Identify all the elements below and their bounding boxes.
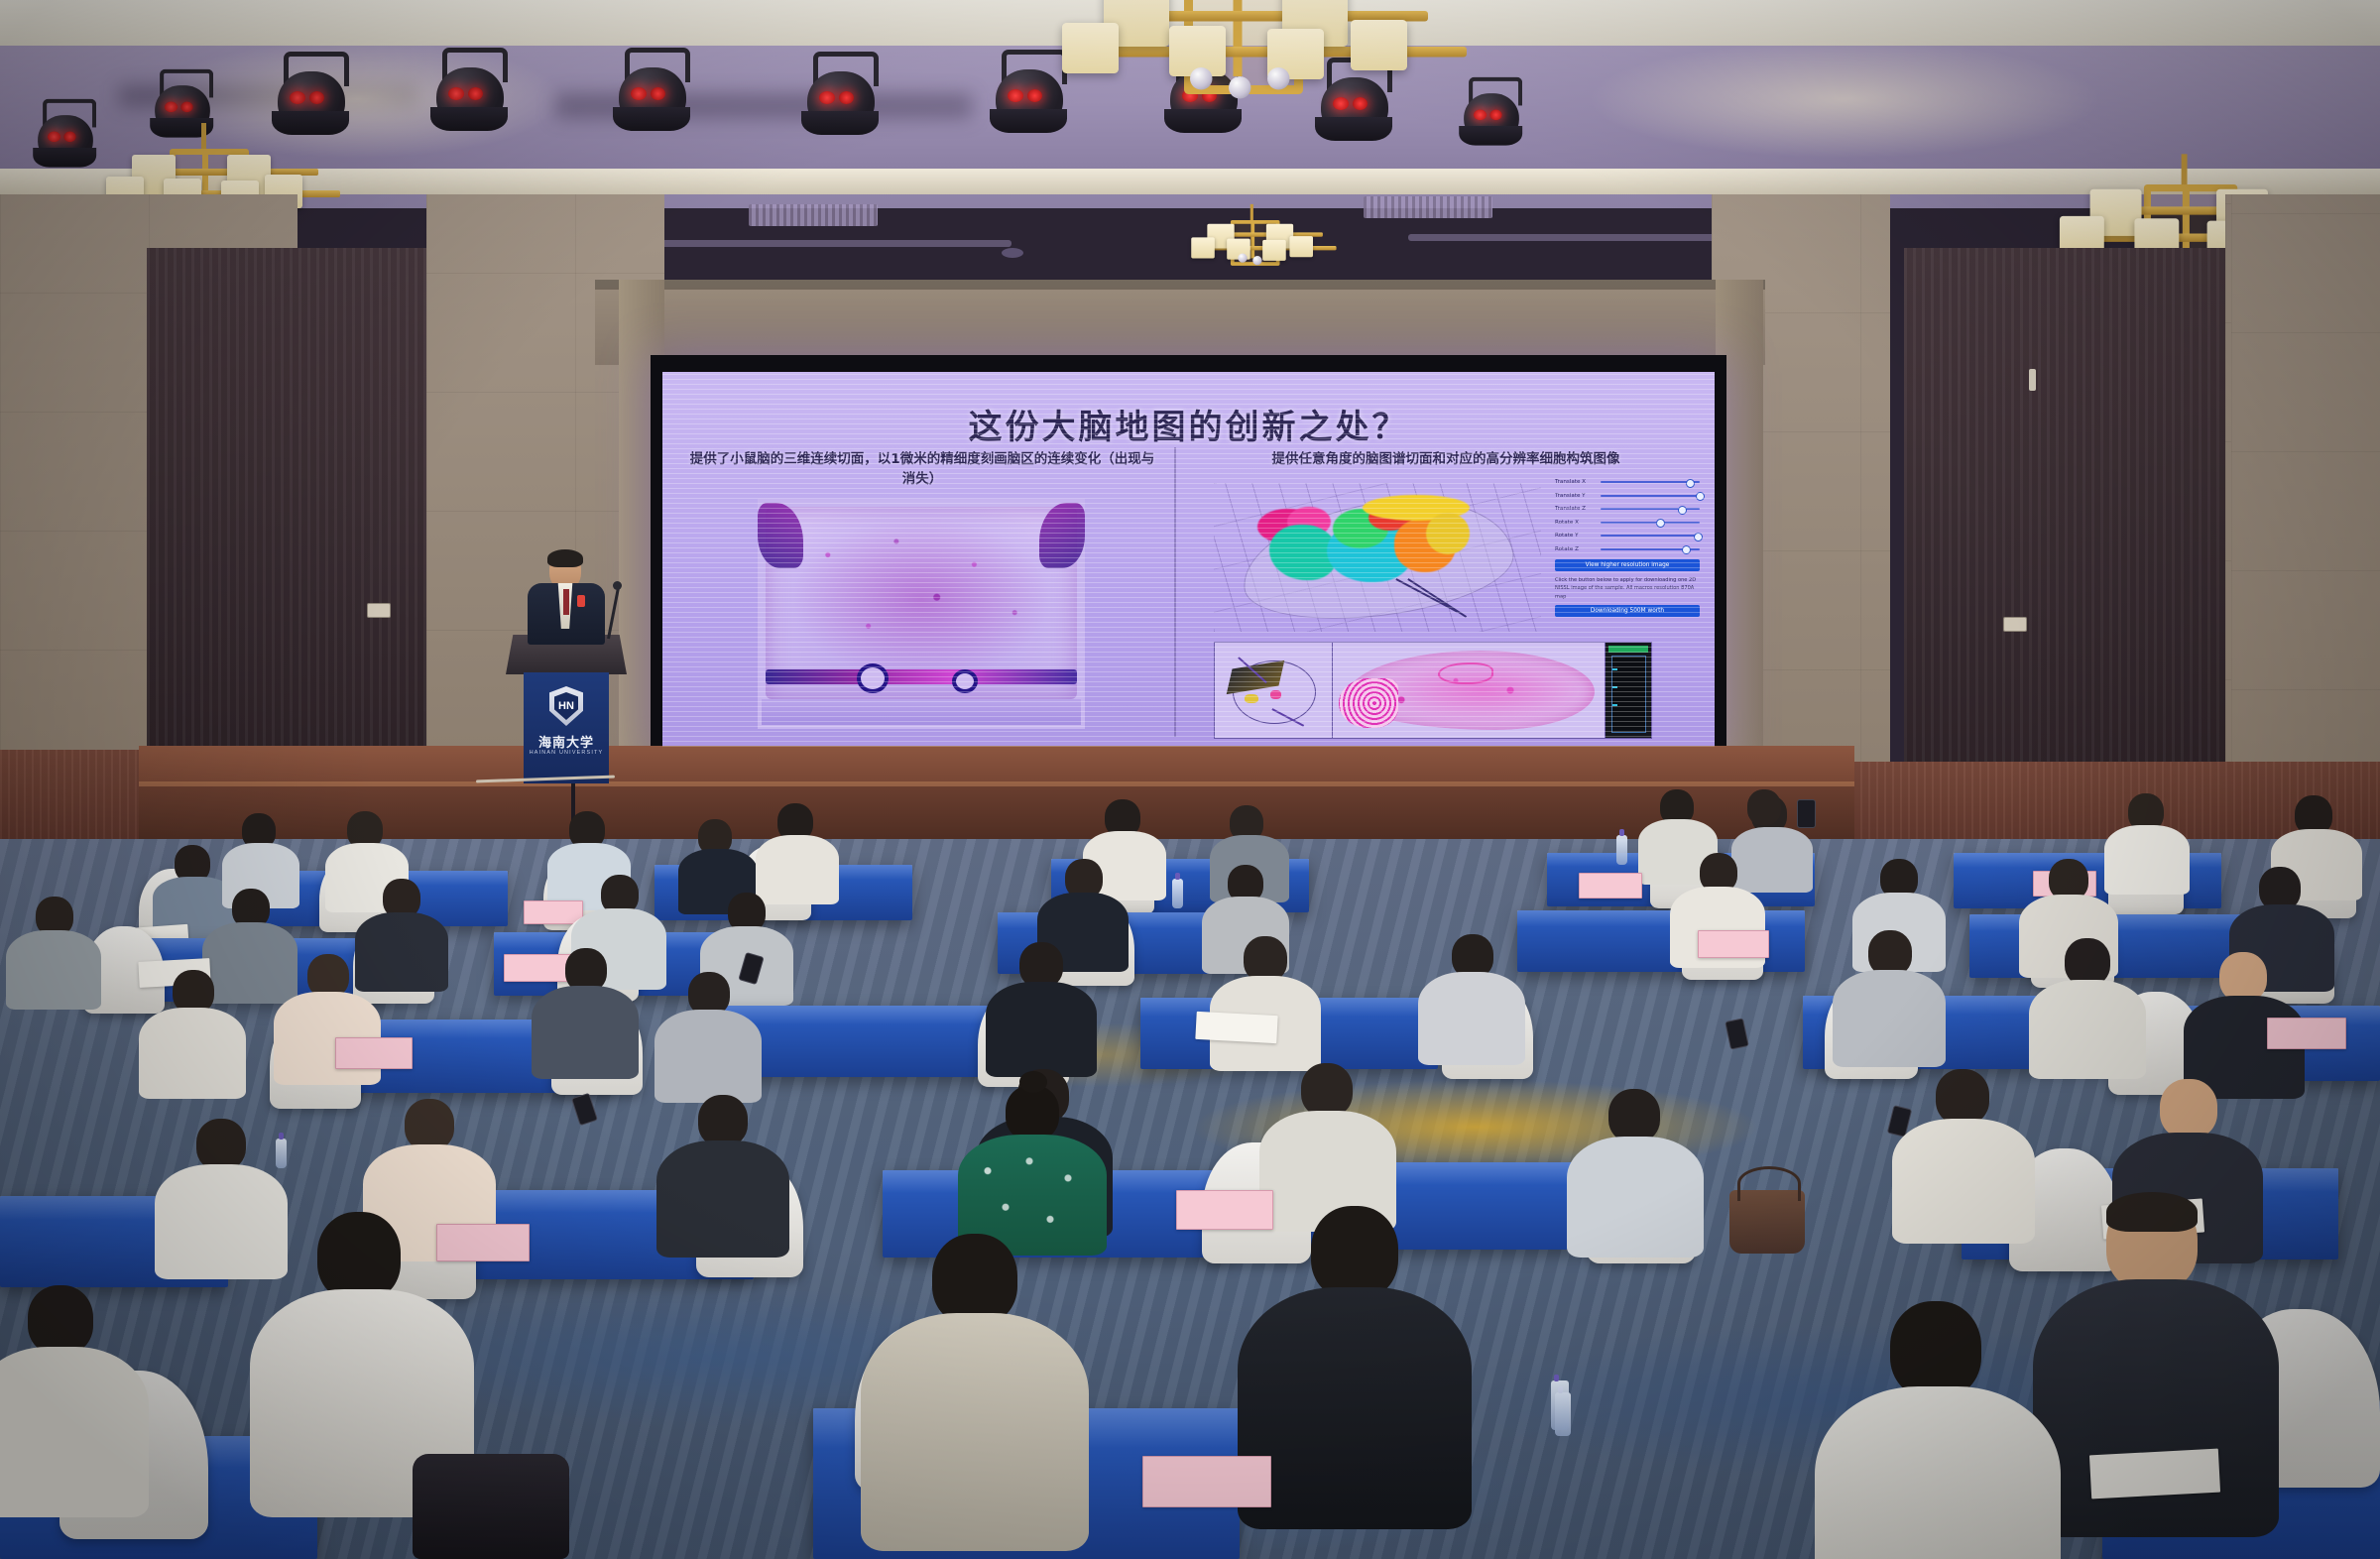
control-panel-note: Click the button below to apply for down…	[1555, 576, 1700, 601]
notepad	[2089, 1449, 2220, 1499]
brain-atlas-3d	[1214, 483, 1541, 632]
ceiling-vent-2	[1364, 196, 1492, 218]
name-card	[1698, 930, 1769, 958]
slider-translate-y[interactable]: Translate Y	[1555, 493, 1700, 499]
name-card	[1142, 1456, 1271, 1507]
university-logo: HN	[549, 686, 583, 726]
curtain-right	[1904, 248, 2231, 803]
stage-spotlight-icon	[1462, 77, 1520, 148]
atlas-control-panel: Translate X Translate Y Translate Z Rota…	[1555, 479, 1700, 617]
name-card	[524, 900, 583, 924]
atlas-region-yellow-2	[1426, 513, 1470, 554]
histology-ventricle-b	[952, 669, 978, 693]
slider-track[interactable]	[1601, 522, 1700, 524]
presentation-screen: 这份大脑地图的创新之处？ 提供了小鼠脑的三维连续切面，以1微米的精细度刻画脑区的…	[651, 355, 1726, 763]
slider-track[interactable]	[1601, 481, 1700, 483]
cerebellum-region	[1339, 678, 1398, 728]
slider-rotate-x[interactable]: Rotate X	[1555, 520, 1700, 526]
attendee-head	[1311, 1206, 1398, 1299]
door-handle-right[interactable]	[2029, 369, 2036, 391]
slider-label: Rotate Z	[1555, 546, 1601, 552]
ceiling-vent-1	[749, 204, 878, 226]
stage-spotlight-icon	[36, 99, 94, 170]
speaker-tie	[563, 589, 569, 615]
attendee-head	[932, 1234, 1017, 1325]
viewer-tick	[1612, 668, 1617, 670]
slider-label: Translate Z	[1555, 506, 1601, 512]
ceiling-cove-light-lower	[0, 169, 2380, 194]
viewer-sidebar-tool[interactable]	[1605, 643, 1651, 738]
stage-edge-highlight	[139, 781, 1854, 786]
attendee-head	[1890, 1301, 1981, 1398]
viewer-panel-dark	[1611, 656, 1646, 733]
backpack	[413, 1454, 569, 1559]
stage-spotlight-icon	[805, 52, 877, 137]
histology-strip-bottom	[762, 699, 1081, 725]
wall-header-shadow	[595, 280, 1765, 290]
attendee-torso	[861, 1313, 1089, 1551]
slide-right-caption: 提供任意角度的脑图谱切面和对应的高分辨率细胞构筑图像	[1194, 449, 1698, 469]
logo-monogram: HN	[554, 692, 578, 720]
wall-socket-right[interactable]	[2003, 617, 2027, 632]
attendee-torso	[1815, 1386, 2061, 1559]
water-bottle	[1172, 879, 1183, 908]
stage-spotlight-icon	[617, 48, 688, 133]
attendee-torso	[1238, 1287, 1472, 1529]
attendee-torso	[2033, 1279, 2279, 1537]
histology-ventricle-a	[857, 663, 889, 693]
slide-column-divider	[1174, 447, 1176, 737]
attendee-hair	[2106, 1192, 2198, 1232]
orientation-marker-yellow	[1245, 694, 1258, 703]
screen-surface: 这份大脑地图的创新之处？ 提供了小鼠脑的三维连续切面，以1微米的精细度刻画脑区的…	[662, 372, 1715, 747]
slider-track[interactable]	[1601, 495, 1700, 497]
name-card	[2267, 1018, 2346, 1049]
slider-rotate-z[interactable]: Rotate Z	[1555, 546, 1700, 552]
slider-translate-x[interactable]: Translate X	[1555, 479, 1700, 485]
speaker-presenter	[520, 551, 611, 643]
download-button[interactable]: Downloading 500M worth	[1555, 605, 1700, 617]
hair-bun	[1019, 1071, 1047, 1093]
wall-header-band	[595, 280, 1765, 365]
slider-label: Rotate X	[1555, 520, 1601, 526]
slider-label: Translate Y	[1555, 493, 1601, 499]
slider-track[interactable]	[1601, 508, 1700, 510]
viewer-tick	[1612, 686, 1617, 688]
slice-viewer-panel	[1214, 642, 1652, 739]
slider-label: Rotate Y	[1555, 533, 1601, 539]
notepad	[1195, 1012, 1277, 1043]
viewer-toolbar-strip	[1608, 646, 1648, 653]
orientation-widget[interactable]	[1215, 643, 1333, 738]
slider-rotate-y[interactable]: Rotate Y	[1555, 533, 1700, 539]
view-higher-resolution-button[interactable]: View higher resolution image	[1555, 559, 1700, 571]
stage-apron	[139, 783, 1854, 841]
orientation-marker-pink	[1270, 690, 1281, 699]
name-card	[335, 1037, 413, 1069]
histology-dark-band	[766, 669, 1077, 684]
viewer-tick	[1612, 704, 1617, 706]
stage-spotlight-icon	[434, 48, 506, 133]
water-bottle	[276, 1139, 287, 1168]
name-card	[504, 954, 573, 982]
name-card	[436, 1224, 530, 1261]
slider-track[interactable]	[1601, 535, 1700, 537]
slide-title: 这份大脑地图的创新之处？	[662, 400, 1715, 448]
handbag-strap	[1737, 1166, 1801, 1201]
sagittal-section-image	[1333, 643, 1605, 738]
hippocampus-outline	[1438, 662, 1493, 684]
shield-icon: HN	[549, 686, 583, 726]
water-bottle	[1551, 1380, 1569, 1430]
attendee-head	[317, 1212, 401, 1301]
wall-far-right	[2231, 194, 2380, 809]
stage-spotlight-icon	[276, 52, 347, 137]
name-card	[1579, 873, 1642, 899]
curtain-left	[147, 248, 444, 774]
slider-label: Translate X	[1555, 479, 1601, 485]
name-card	[1176, 1190, 1273, 1230]
lectern-front-panel: HN 海南大学 HAINAN UNIVERSITY	[524, 672, 609, 783]
microphone-head	[613, 581, 622, 590]
wall-socket-left[interactable]	[367, 603, 391, 618]
water-bottle	[1616, 835, 1627, 865]
phone-raised[interactable]	[1797, 799, 1816, 828]
stage-spotlight-icon	[994, 50, 1065, 135]
university-name-cn: 海南大学	[524, 732, 609, 751]
slider-translate-z[interactable]: Translate Z	[1555, 506, 1700, 512]
histology-section-image	[758, 499, 1085, 729]
speaker-hair	[547, 549, 583, 567]
slide-left-caption: 提供了小鼠脑的三维连续切面，以1微米的精细度刻画脑区的连续变化（出现与消失）	[684, 449, 1160, 490]
lectern: HN 海南大学 HAINAN UNIVERSITY	[506, 635, 627, 783]
ceiling-dome-1	[1002, 248, 1023, 258]
slider-track[interactable]	[1601, 548, 1700, 550]
attendee-head	[1006, 1085, 1059, 1140]
speaker-lapel-badge	[577, 595, 585, 607]
university-name-en: HAINAN UNIVERSITY	[524, 750, 609, 756]
ceiling-glow-right	[1587, 40, 2102, 159]
conference-hall-photo: 这份大脑地图的创新之处？ 提供了小鼠脑的三维连续切面，以1微米的精细度刻画脑区的…	[0, 0, 2380, 1559]
